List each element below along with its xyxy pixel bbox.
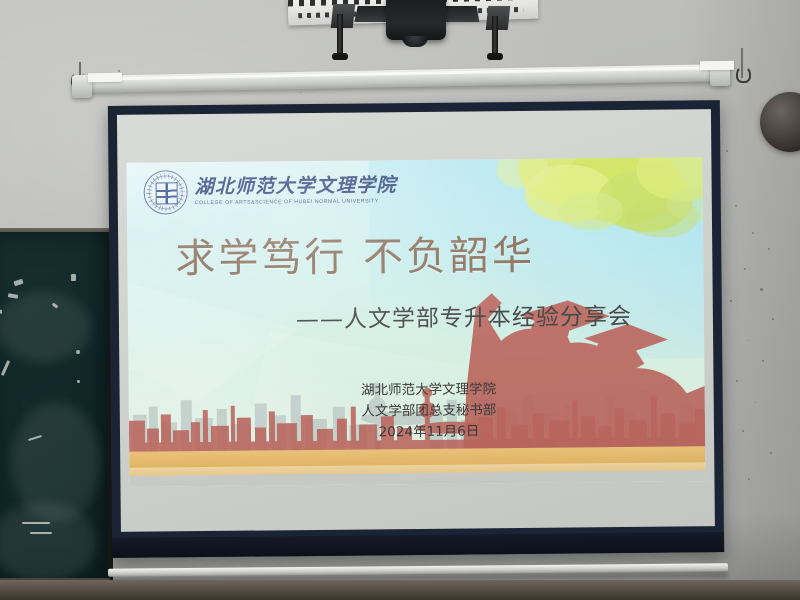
wall-speck <box>744 268 746 270</box>
projector-rod-left <box>337 14 343 56</box>
wall-speck <box>772 318 774 320</box>
presentation-slide: 湖北师范大学文理学院 COLLEGE OF ARTS&SCIENCE OF HU… <box>126 157 705 487</box>
wall-speck <box>118 70 120 72</box>
logo-chinese-name: 湖北师范大学文理学院 <box>195 176 397 197</box>
wall-speck <box>768 248 770 250</box>
wall-speck <box>748 478 750 480</box>
wall-speck <box>762 360 764 362</box>
seal-monogram <box>156 182 178 204</box>
lower-ledge <box>0 580 800 600</box>
wall-speck <box>726 150 728 152</box>
roller-mount-tab-left <box>88 73 122 83</box>
wall-speck <box>735 205 737 207</box>
blackboard <box>0 232 113 584</box>
credit-line-organization: 湖北师范大学文理学院 <box>333 379 523 402</box>
university-seal-icon <box>143 170 187 214</box>
wall-speck <box>730 300 732 302</box>
projector-rod-foot-left <box>332 53 348 60</box>
credit-line-date: 2024年11月6日 <box>334 421 524 444</box>
projector-rod-right <box>492 16 498 56</box>
projector-bracket-right <box>486 6 511 30</box>
university-logo: 湖北师范大学文理学院 COLLEGE OF ARTS&SCIENCE OF HU… <box>143 168 396 214</box>
slide-subtitle: ——人文学部专升本经验分享会 <box>296 306 632 332</box>
wall-speck <box>752 232 754 234</box>
wall-speck <box>742 430 744 432</box>
slide-title: 求学笃行 不负韶华 <box>175 236 535 279</box>
projector-body <box>386 0 446 40</box>
logo-english-name: COLLEGE OF ARTS&SCIENCE OF HUBEI NORMAL … <box>195 198 397 206</box>
roller-mount-tab-right <box>700 61 734 71</box>
classroom-scene: 湖北师范大学文理学院 COLLEGE OF ARTS&SCIENCE OF HU… <box>0 0 800 600</box>
wall-speck <box>760 288 763 291</box>
projector-bracket-left <box>331 4 356 28</box>
slide-credits: 湖北师范大学文理学院 人文学部团总支秘书部 2024年11月6日 <box>333 379 524 444</box>
wall-speck <box>736 380 738 382</box>
roller-hook-right-icon <box>736 66 751 83</box>
projector-rod-foot-right <box>487 53 503 60</box>
wall-speck <box>770 452 772 454</box>
credit-line-department: 人文学部团总支秘书部 <box>334 400 524 423</box>
projection-screen[interactable]: 湖北师范大学文理学院 COLLEGE OF ARTS&SCIENCE OF HU… <box>108 100 724 558</box>
